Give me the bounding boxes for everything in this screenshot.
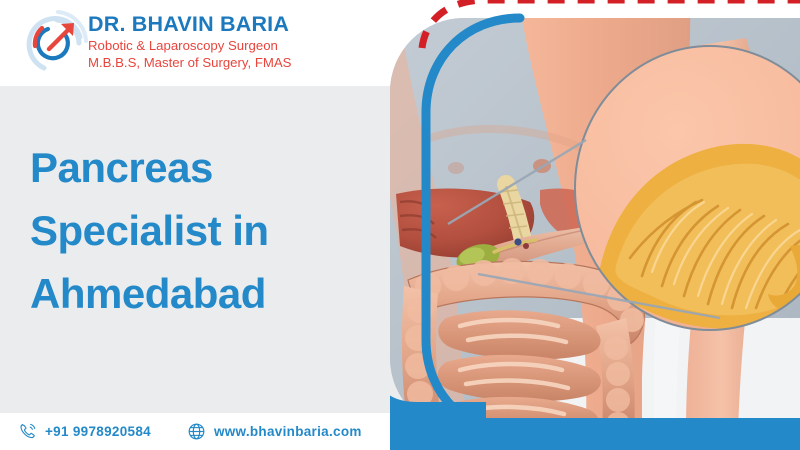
globe-icon [187, 422, 206, 441]
phone-number: +91 9978920584 [45, 424, 151, 439]
page-title-line-3: Ahmedabad [30, 262, 370, 325]
page-title: Pancreas Specialist in Ahmedabad [30, 136, 370, 325]
phone-link[interactable]: +91 9978920584 [18, 422, 151, 441]
brand-subtitle-specialty: Robotic & Laparoscopy Surgeon [88, 37, 338, 54]
banner-canvas: DR. BHAVIN BARIA Robotic & Laparoscopy S… [0, 0, 800, 450]
contact-bar: +91 9978920584 www.bhavinbaria.com [0, 413, 440, 450]
header: DR. BHAVIN BARIA Robotic & Laparoscopy S… [0, 0, 440, 86]
brand-name: DR. BHAVIN BARIA [88, 12, 338, 37]
anatomy-media-panel [390, 0, 800, 450]
brand-text: DR. BHAVIN BARIA Robotic & Laparoscopy S… [88, 12, 338, 71]
target-arrow-logo-icon [22, 10, 88, 76]
bottom-blue-bar [390, 418, 800, 450]
phone-call-icon [18, 422, 37, 441]
website-url: www.bhavinbaria.com [214, 424, 362, 439]
brand-subtitle-qualifications: M.B.B.S, Master of Surgery, FMAS [88, 54, 338, 71]
page-title-line-2: Specialist in [30, 199, 370, 262]
page-title-line-1: Pancreas [30, 136, 370, 199]
anatomy-illustration [390, 18, 800, 432]
website-link[interactable]: www.bhavinbaria.com [187, 422, 362, 441]
